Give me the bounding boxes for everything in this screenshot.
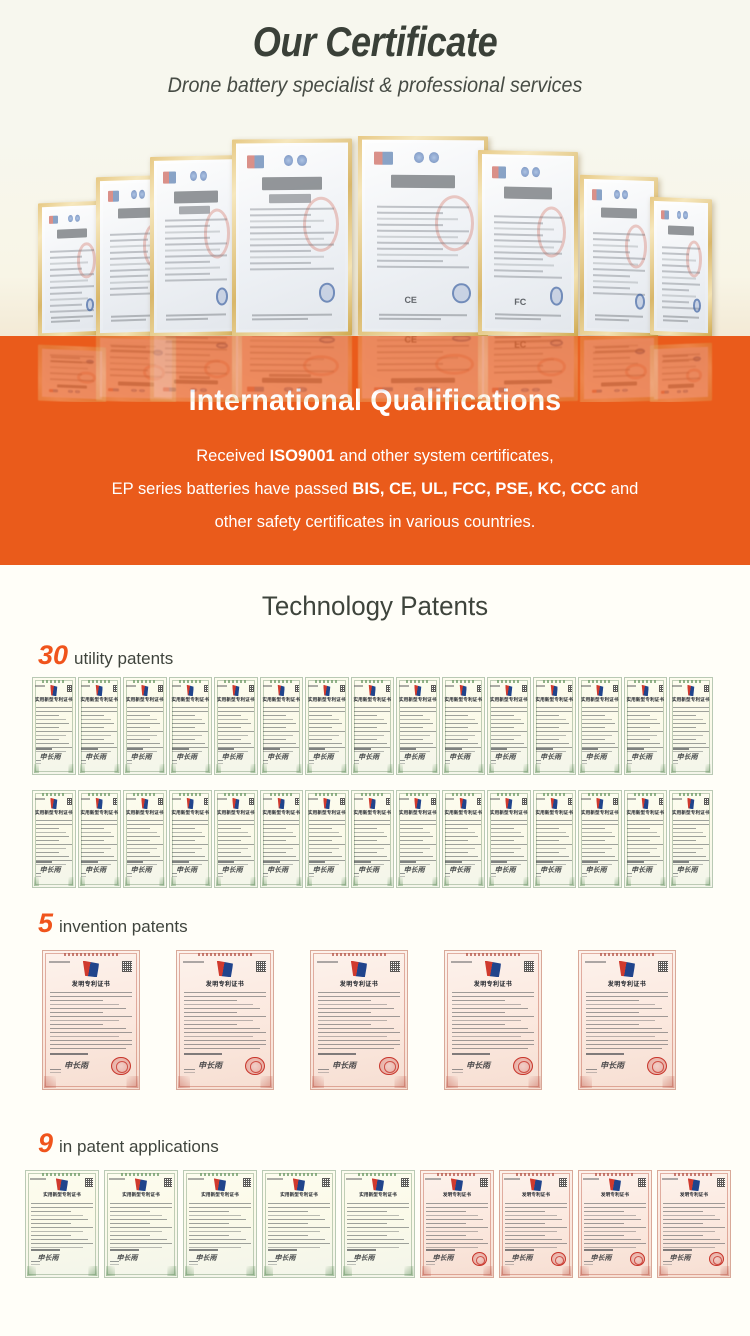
qr-code-icon <box>477 685 482 693</box>
patent-title: 实用新型专利证书 <box>342 1192 414 1198</box>
patent-certificate: 发明专利证书申长雨 <box>657 1170 731 1278</box>
patent-certificate: 实用新型专利证书申长雨 <box>305 790 349 888</box>
patent-certificate: 实用新型专利证书申长雨 <box>396 790 440 888</box>
patent-body-text <box>536 820 572 858</box>
patent-title: 实用新型专利证书 <box>105 1192 177 1198</box>
patent-certificate: 实用新型专利证书申长雨 <box>578 790 622 888</box>
patent-signature: 申长雨 <box>222 752 243 762</box>
qr-code-icon <box>431 685 436 693</box>
patent-title: 实用新型专利证书 <box>397 697 439 703</box>
qr-code-icon <box>638 1178 646 1186</box>
group-label-utility: 30 utility patents <box>38 642 173 669</box>
patent-body-text <box>309 707 345 745</box>
patent-title: 实用新型专利证书 <box>443 697 485 703</box>
patent-code <box>126 798 135 800</box>
patent-certificate: 实用新型专利证书申长雨 <box>669 790 713 888</box>
patent-title: 实用新型专利证书 <box>397 810 439 816</box>
qr-code-icon <box>322 1178 330 1186</box>
certificate-page: Our Certificate Drone battery specialist… <box>0 0 750 1336</box>
patent-title: 实用新型专利证书 <box>33 697 75 703</box>
patent-certificate: 实用新型专利证书申长雨 <box>260 790 304 888</box>
patent-code <box>581 685 590 687</box>
patent-signature: 申长雨 <box>275 1253 296 1263</box>
patent-body-text <box>505 1203 567 1245</box>
patent-certificate: 实用新型专利证书申长雨 <box>533 790 577 888</box>
patent-signature: 申长雨 <box>332 1060 356 1071</box>
framed-certificate: FC <box>478 150 578 336</box>
patent-certificate: 实用新型专利证书申长雨 <box>341 1170 415 1278</box>
patent-body-text <box>172 820 208 858</box>
patent-signature: 申长雨 <box>404 865 425 875</box>
qr-code-icon <box>477 798 482 806</box>
patent-body-text <box>36 820 72 858</box>
patent-signature: 申长雨 <box>222 865 243 875</box>
patent-certificate: 实用新型专利证书申长雨 <box>25 1170 99 1278</box>
patent-title: 实用新型专利证书 <box>534 697 576 703</box>
patent-signature: 申长雨 <box>85 752 106 762</box>
patent-body-text <box>127 820 163 858</box>
patent-title: 实用新型专利证书 <box>488 810 530 816</box>
patent-certificate: 实用新型专利证书申长雨 <box>260 677 304 775</box>
patent-code <box>504 1178 520 1180</box>
patent-certificate: 实用新型专利证书申长雨 <box>169 677 213 775</box>
qualifications-banner: International Qualifications Received IS… <box>0 336 750 565</box>
patent-signature: 申长雨 <box>131 752 152 762</box>
qr-code-icon <box>67 798 72 806</box>
qr-code-icon <box>256 961 267 972</box>
patent-title: 发明专利证书 <box>445 979 541 988</box>
patent-signature: 申长雨 <box>64 1060 88 1071</box>
patent-signature: 申长雨 <box>267 865 288 875</box>
patent-signature: 申长雨 <box>586 752 607 762</box>
patent-certificate: 实用新型专利证书申长雨 <box>533 677 577 775</box>
qr-code-icon <box>386 685 391 693</box>
patent-signature: 申长雨 <box>196 1253 217 1263</box>
patent-title: 发明专利证书 <box>43 979 139 988</box>
banner-line-1: Received ISO9001 and other system certif… <box>11 439 739 472</box>
patent-signature: 申长雨 <box>131 865 152 875</box>
patent-code <box>346 1178 362 1180</box>
patent-certificate: 实用新型专利证书申长雨 <box>78 677 122 775</box>
patent-signature: 申长雨 <box>466 1060 490 1071</box>
qr-code-icon <box>568 685 573 693</box>
patent-body-text <box>627 820 663 858</box>
qr-code-icon <box>340 685 345 693</box>
patent-title: 实用新型专利证书 <box>170 810 212 816</box>
patent-certificate: 发明专利证书申长雨 <box>310 950 408 1090</box>
patent-code <box>263 798 272 800</box>
patent-title: 实用新型专利证书 <box>306 697 348 703</box>
patent-signature: 申长雨 <box>591 1253 612 1263</box>
framed-certificate <box>150 155 242 336</box>
patent-certificate: 实用新型专利证书申长雨 <box>351 790 395 888</box>
patent-title: 实用新型专利证书 <box>579 810 621 816</box>
patent-signature: 申长雨 <box>631 752 652 762</box>
patent-certificate: 发明专利证书申长雨 <box>499 1170 573 1278</box>
patent-signature: 申长雨 <box>495 865 516 875</box>
patent-title: 实用新型专利证书 <box>625 697 667 703</box>
framed-certificate: CE <box>358 136 488 336</box>
patent-body-text <box>172 707 208 745</box>
patent-signature: 申长雨 <box>313 752 334 762</box>
patent-signature: 申长雨 <box>670 1253 691 1263</box>
patent-code <box>30 1178 46 1180</box>
page-header: Our Certificate Drone battery specialist… <box>0 0 750 136</box>
patent-code <box>627 798 636 800</box>
patent-code <box>399 685 408 687</box>
patent-signature: 申长雨 <box>313 865 334 875</box>
patent-title: 发明专利证书 <box>421 1192 493 1198</box>
patent-signature: 申长雨 <box>267 752 288 762</box>
patent-title: 实用新型专利证书 <box>215 810 257 816</box>
patent-code <box>188 1178 204 1180</box>
patent-signature: 申长雨 <box>354 1253 375 1263</box>
patent-body-text <box>445 707 481 745</box>
banner-title: International Qualifications <box>19 384 732 418</box>
patent-body-text <box>189 1203 251 1245</box>
patent-code <box>172 685 181 687</box>
utility-patent-row-2: 实用新型专利证书申长雨实用新型专利证书申长雨实用新型专利证书申长雨实用新型专利证… <box>32 790 713 888</box>
patent-body-text <box>31 1203 93 1245</box>
applications-count: 9 <box>38 1130 53 1157</box>
patent-code <box>308 685 317 687</box>
patent-signature: 申长雨 <box>586 865 607 875</box>
patent-certificate: 实用新型专利证书申长雨 <box>262 1170 336 1278</box>
qr-code-icon <box>249 685 254 693</box>
patent-body-text <box>127 707 163 745</box>
patent-certificate: 实用新型专利证书申长雨 <box>123 677 167 775</box>
patent-body-text <box>354 820 390 858</box>
patent-title: 实用新型专利证书 <box>579 697 621 703</box>
patent-title: 实用新型专利证书 <box>215 697 257 703</box>
patent-title: 实用新型专利证书 <box>488 697 530 703</box>
patent-code <box>399 798 408 800</box>
patent-body-text <box>536 707 572 745</box>
patent-body-text <box>673 820 709 858</box>
patent-code <box>445 798 454 800</box>
patent-signature: 申长雨 <box>40 752 61 762</box>
patent-code <box>126 685 135 687</box>
patent-signature: 申长雨 <box>631 865 652 875</box>
patent-signature: 申长雨 <box>449 865 470 875</box>
patent-title: 实用新型专利证书 <box>261 697 303 703</box>
framed-certificate <box>232 138 352 336</box>
patent-body-text <box>309 820 345 858</box>
patent-body-text <box>452 992 535 1047</box>
qr-code-icon <box>401 1178 409 1186</box>
patent-title: 实用新型专利证书 <box>79 810 121 816</box>
patent-certificate: 实用新型专利证书申长雨 <box>351 677 395 775</box>
patent-certificate: 实用新型专利证书申长雨 <box>624 790 668 888</box>
patent-code <box>81 798 90 800</box>
patent-code <box>172 798 181 800</box>
patent-signature: 申长雨 <box>512 1253 533 1263</box>
qr-code-icon <box>113 798 118 806</box>
patent-title: 实用新型专利证书 <box>670 810 712 816</box>
patent-body-text <box>81 820 117 858</box>
qr-code-icon <box>524 961 535 972</box>
patent-code <box>425 1178 441 1180</box>
patent-code <box>672 798 681 800</box>
patent-code <box>354 798 363 800</box>
qr-code-icon <box>568 798 573 806</box>
patent-body-text <box>400 820 436 858</box>
qr-code-icon <box>122 961 133 972</box>
qr-code-icon <box>659 798 664 806</box>
patent-signature: 申长雨 <box>38 1253 59 1263</box>
patent-certificate: 实用新型专利证书申长雨 <box>442 790 486 888</box>
page-title: Our Certificate <box>53 18 698 65</box>
patent-code <box>49 961 70 963</box>
utility-count: 30 <box>38 642 68 669</box>
patent-body-text <box>318 992 401 1047</box>
patent-title: 发明专利证书 <box>311 979 407 988</box>
patent-signature: 申长雨 <box>176 865 197 875</box>
patent-code <box>451 961 472 963</box>
patent-title: 实用新型专利证书 <box>79 697 121 703</box>
qr-code-icon <box>158 685 163 693</box>
patent-body-text <box>50 992 133 1047</box>
patent-title: 实用新型专利证书 <box>263 1192 335 1198</box>
patent-code <box>672 685 681 687</box>
patent-title: 发明专利证书 <box>177 979 273 988</box>
patent-code <box>583 1178 599 1180</box>
patent-code <box>109 1178 125 1180</box>
patent-body-text <box>81 707 117 745</box>
patent-title: 实用新型专利证书 <box>534 810 576 816</box>
patents-section: Technology Patents 30 utility patents 实用… <box>0 565 750 1336</box>
patent-certificate: 实用新型专利证书申长雨 <box>578 677 622 775</box>
patent-body-text <box>36 707 72 745</box>
patent-title: 发明专利证书 <box>500 1192 572 1198</box>
applications-label: in patent applications <box>59 1138 219 1155</box>
qr-code-icon <box>431 798 436 806</box>
patent-body-text <box>263 820 299 858</box>
group-label-applications: 9 in patent applications <box>38 1130 219 1157</box>
patent-body-text <box>627 707 663 745</box>
patent-title: 实用新型专利证书 <box>352 810 394 816</box>
patent-code <box>536 685 545 687</box>
patent-certificate: 发明专利证书申长雨 <box>578 1170 652 1278</box>
qr-code-icon <box>613 685 618 693</box>
patent-signature: 申长雨 <box>677 752 698 762</box>
patent-title: 实用新型专利证书 <box>124 810 166 816</box>
qr-code-icon <box>249 798 254 806</box>
patent-title: 实用新型专利证书 <box>352 697 394 703</box>
patent-body-text <box>584 1203 646 1245</box>
patent-body-text <box>354 707 390 745</box>
certificate-gallery: CEFC <box>0 136 750 336</box>
banner-line-2: EP series batteries have passed BIS, CE,… <box>11 472 739 505</box>
application-patent-row: 实用新型专利证书申长雨实用新型专利证书申长雨实用新型专利证书申长雨实用新型专利证… <box>25 1170 731 1278</box>
patent-body-text <box>110 1203 172 1245</box>
patent-title: 实用新型专利证书 <box>33 810 75 816</box>
patent-certificate: 发明专利证书申长雨 <box>42 950 140 1090</box>
patent-code <box>490 798 499 800</box>
patent-certificate: 实用新型专利证书申长雨 <box>104 1170 178 1278</box>
patent-title: 实用新型专利证书 <box>184 1192 256 1198</box>
qr-code-icon <box>522 685 527 693</box>
qr-code-icon <box>659 685 664 693</box>
patent-certificate: 实用新型专利证书申长雨 <box>214 790 258 888</box>
qr-code-icon <box>704 798 709 806</box>
patent-certificate: 实用新型专利证书申长雨 <box>305 677 349 775</box>
patent-signature: 申长雨 <box>358 865 379 875</box>
patent-certificate: 实用新型专利证书申长雨 <box>123 790 167 888</box>
invention-label: invention patents <box>59 918 188 935</box>
patent-title: 实用新型专利证书 <box>306 810 348 816</box>
banner-line-3: other safety certificates in various cou… <box>11 505 739 538</box>
patent-code <box>217 685 226 687</box>
patent-certificate: 实用新型专利证书申长雨 <box>214 677 258 775</box>
patent-signature: 申长雨 <box>540 752 561 762</box>
patent-body-text <box>218 820 254 858</box>
patent-code <box>267 1178 283 1180</box>
qr-code-icon <box>658 961 669 972</box>
patent-body-text <box>673 707 709 745</box>
patent-code <box>662 1178 678 1180</box>
patent-title: 发明专利证书 <box>579 979 675 988</box>
patent-signature: 申长雨 <box>85 865 106 875</box>
patent-certificate: 发明专利证书申长雨 <box>176 950 274 1090</box>
qr-code-icon <box>158 798 163 806</box>
patent-certificate: 实用新型专利证书申长雨 <box>442 677 486 775</box>
qr-code-icon <box>204 685 209 693</box>
banner-body: Received ISO9001 and other system certif… <box>0 439 750 538</box>
patent-title: 实用新型专利证书 <box>625 810 667 816</box>
utility-label: utility patents <box>74 650 173 667</box>
patent-body-text <box>582 707 618 745</box>
patent-code <box>490 685 499 687</box>
patent-signature: 申长雨 <box>404 752 425 762</box>
qr-code-icon <box>717 1178 725 1186</box>
qr-code-icon <box>204 798 209 806</box>
qr-code-icon <box>243 1178 251 1186</box>
patent-signature: 申长雨 <box>40 865 61 875</box>
patent-title: 实用新型专利证书 <box>170 697 212 703</box>
qr-code-icon <box>67 685 72 693</box>
patent-body-text <box>491 707 527 745</box>
patent-signature: 申长雨 <box>540 865 561 875</box>
patent-certificate: 发明专利证书申长雨 <box>420 1170 494 1278</box>
patent-body-text <box>218 707 254 745</box>
patent-signature: 申长雨 <box>433 1253 454 1263</box>
patent-certificate: 实用新型专利证书申长雨 <box>78 790 122 888</box>
page-subtitle: Drone battery specialist & professional … <box>23 73 728 98</box>
patents-section-title: Technology Patents <box>15 591 735 622</box>
patent-body-text <box>582 820 618 858</box>
qr-code-icon <box>113 685 118 693</box>
utility-patent-row-1: 实用新型专利证书申长雨实用新型专利证书申长雨实用新型专利证书申长雨实用新型专利证… <box>32 677 713 775</box>
patent-code <box>183 961 204 963</box>
patent-signature: 申长雨 <box>176 752 197 762</box>
qr-code-icon <box>164 1178 172 1186</box>
patent-body-text <box>263 707 299 745</box>
patent-body-text <box>586 992 669 1047</box>
patent-code <box>585 961 606 963</box>
patent-title: 实用新型专利证书 <box>261 810 303 816</box>
patent-body-text <box>426 1203 488 1245</box>
patent-signature: 申长雨 <box>495 752 516 762</box>
patent-code <box>581 798 590 800</box>
patent-signature: 申长雨 <box>600 1060 624 1071</box>
patent-body-text <box>268 1203 330 1245</box>
qr-code-icon <box>340 798 345 806</box>
patent-certificate: 发明专利证书申长雨 <box>578 950 676 1090</box>
patent-body-text <box>491 820 527 858</box>
qr-code-icon <box>295 798 300 806</box>
patent-title: 发明专利证书 <box>579 1192 651 1198</box>
patent-certificate: 实用新型专利证书申长雨 <box>487 790 531 888</box>
patent-certificate: 实用新型专利证书申长雨 <box>624 677 668 775</box>
qr-code-icon <box>386 798 391 806</box>
patent-body-text <box>400 707 436 745</box>
patent-title: 实用新型专利证书 <box>443 810 485 816</box>
patent-code <box>354 685 363 687</box>
patent-body-text <box>184 992 267 1047</box>
patent-title: 实用新型专利证书 <box>26 1192 98 1198</box>
patent-body-text <box>445 820 481 858</box>
patent-title: 实用新型专利证书 <box>670 697 712 703</box>
patent-title: 实用新型专利证书 <box>124 697 166 703</box>
patent-certificate: 实用新型专利证书申长雨 <box>487 677 531 775</box>
patent-signature: 申长雨 <box>677 865 698 875</box>
framed-certificate <box>650 197 712 336</box>
patent-certificate: 实用新型专利证书申长雨 <box>32 677 76 775</box>
invention-count: 5 <box>38 910 53 937</box>
patent-code <box>536 798 545 800</box>
patent-body-text <box>663 1203 725 1245</box>
patent-certificate: 实用新型专利证书申长雨 <box>32 790 76 888</box>
invention-patent-row: 发明专利证书申长雨发明专利证书申长雨发明专利证书申长雨发明专利证书申长雨发明专利… <box>42 950 676 1090</box>
patent-signature: 申长雨 <box>198 1060 222 1071</box>
framed-certificate <box>580 175 658 336</box>
patent-certificate: 实用新型专利证书申长雨 <box>396 677 440 775</box>
patent-certificate: 实用新型专利证书申长雨 <box>183 1170 257 1278</box>
patent-code <box>308 798 317 800</box>
patent-code <box>81 685 90 687</box>
qr-code-icon <box>559 1178 567 1186</box>
patent-certificate: 发明专利证书申长雨 <box>444 950 542 1090</box>
patent-certificate: 实用新型专利证书申长雨 <box>669 677 713 775</box>
qr-code-icon <box>613 798 618 806</box>
patent-signature: 申长雨 <box>449 752 470 762</box>
patent-title: 发明专利证书 <box>658 1192 730 1198</box>
qr-code-icon <box>522 798 527 806</box>
patent-code <box>627 685 636 687</box>
qr-code-icon <box>390 961 401 972</box>
qr-code-icon <box>704 685 709 693</box>
patent-code <box>317 961 338 963</box>
patent-body-text <box>347 1203 409 1245</box>
patent-code <box>35 685 44 687</box>
group-label-invention: 5 invention patents <box>38 910 188 937</box>
patent-certificate: 实用新型专利证书申长雨 <box>169 790 213 888</box>
patent-code <box>263 685 272 687</box>
qr-code-icon <box>85 1178 93 1186</box>
qr-code-icon <box>295 685 300 693</box>
qr-code-icon <box>480 1178 488 1186</box>
patent-code <box>445 685 454 687</box>
patent-code <box>217 798 226 800</box>
patent-signature: 申长雨 <box>358 752 379 762</box>
patent-code <box>35 798 44 800</box>
patent-signature: 申长雨 <box>117 1253 138 1263</box>
